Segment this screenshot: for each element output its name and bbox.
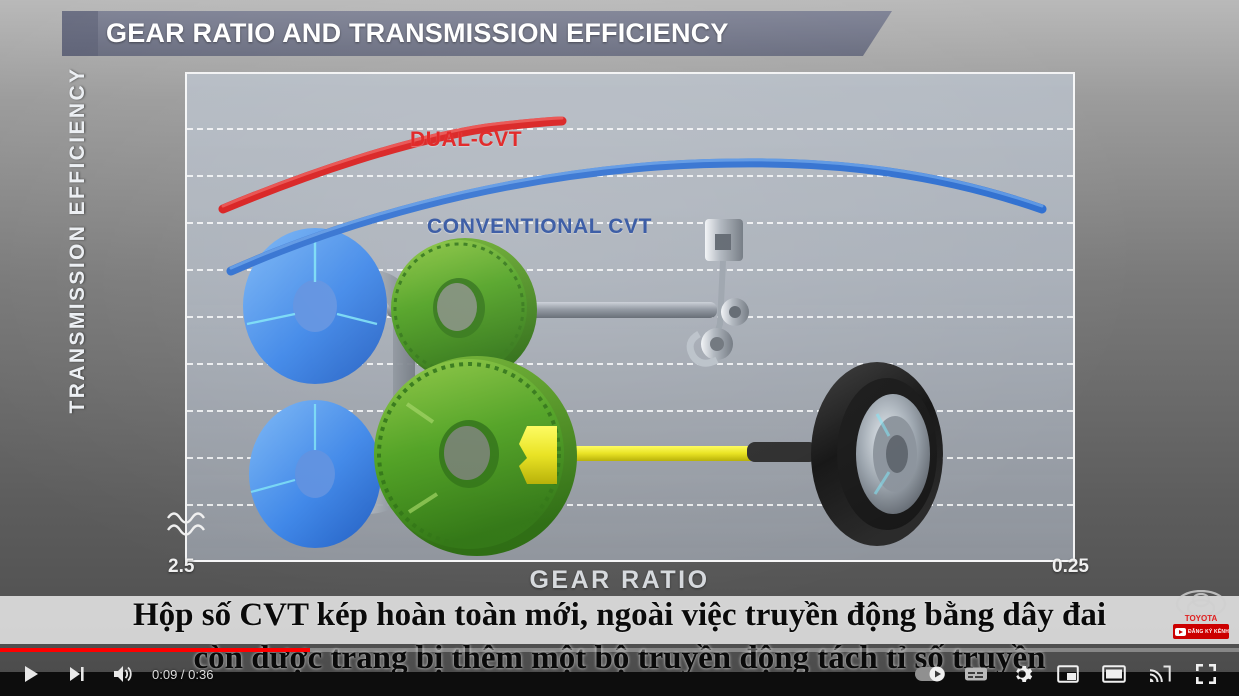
fullscreen-button[interactable] xyxy=(1183,652,1229,696)
play-icon xyxy=(22,665,40,683)
series-line-dual-cvt xyxy=(187,74,1075,562)
next-icon xyxy=(68,665,86,683)
volume-icon xyxy=(112,664,134,684)
volume-button[interactable] xyxy=(100,652,146,696)
gear-icon xyxy=(1011,663,1033,685)
cast-button[interactable] xyxy=(1137,652,1183,696)
page-title: GEAR RATIO AND TRANSMISSION EFFICIENCY xyxy=(106,18,729,49)
player-controls-right xyxy=(907,652,1239,696)
subscribe-button[interactable]: ĐĂNG KÝ KÊNH xyxy=(1173,624,1229,639)
chart-plot-area xyxy=(185,72,1075,562)
series-label-dual-cvt: DUAL-CVT xyxy=(410,128,522,152)
miniplayer-icon xyxy=(1057,665,1079,683)
y-axis-label: TRANSMISSION EFFICIENCY xyxy=(66,30,90,450)
subtitles-button[interactable] xyxy=(953,652,999,696)
series-label-conventional-cvt: CONVENTIONAL CVT xyxy=(427,215,652,239)
channel-watermark[interactable]: TOYOTA ĐĂNG KÝ KÊNH xyxy=(1173,590,1231,644)
cast-icon xyxy=(1149,665,1171,683)
time-display: 0:09 / 0:36 xyxy=(146,667,223,682)
axis-break-icon xyxy=(166,506,206,540)
theater-button[interactable] xyxy=(1091,652,1137,696)
title-banner-tab xyxy=(62,11,98,56)
x-axis-tick-right: 0.25 xyxy=(1052,556,1089,578)
play-button[interactable] xyxy=(8,652,54,696)
player-controls: 0:09 / 0:36 xyxy=(0,652,1239,696)
video-frame[interactable]: DUAL-CVT CONVENTIONAL CVT TRANSMISSION E… xyxy=(0,0,1239,696)
autoplay-icon xyxy=(914,665,946,683)
subscribe-label: ĐĂNG KÝ KÊNH xyxy=(1188,629,1229,635)
x-axis-tick-left: 2.5 xyxy=(168,556,194,578)
youtube-play-icon xyxy=(1175,628,1186,636)
miniplayer-button[interactable] xyxy=(1045,652,1091,696)
autoplay-toggle[interactable] xyxy=(907,652,953,696)
fullscreen-icon xyxy=(1196,664,1216,684)
subtitles-icon xyxy=(964,665,988,683)
toyota-logo-icon: TOYOTA xyxy=(1173,590,1229,624)
youtube-player[interactable]: DUAL-CVT CONVENTIONAL CVT TRANSMISSION E… xyxy=(0,0,1239,696)
player-controls-left: 0:09 / 0:36 xyxy=(0,652,223,696)
svg-text:TOYOTA: TOYOTA xyxy=(1185,614,1218,623)
settings-button[interactable] xyxy=(999,652,1045,696)
next-button[interactable] xyxy=(54,652,100,696)
caption-line-1: Hộp số CVT kép hoàn toàn mới, ngoài việc… xyxy=(0,594,1239,636)
theater-icon xyxy=(1102,665,1126,683)
